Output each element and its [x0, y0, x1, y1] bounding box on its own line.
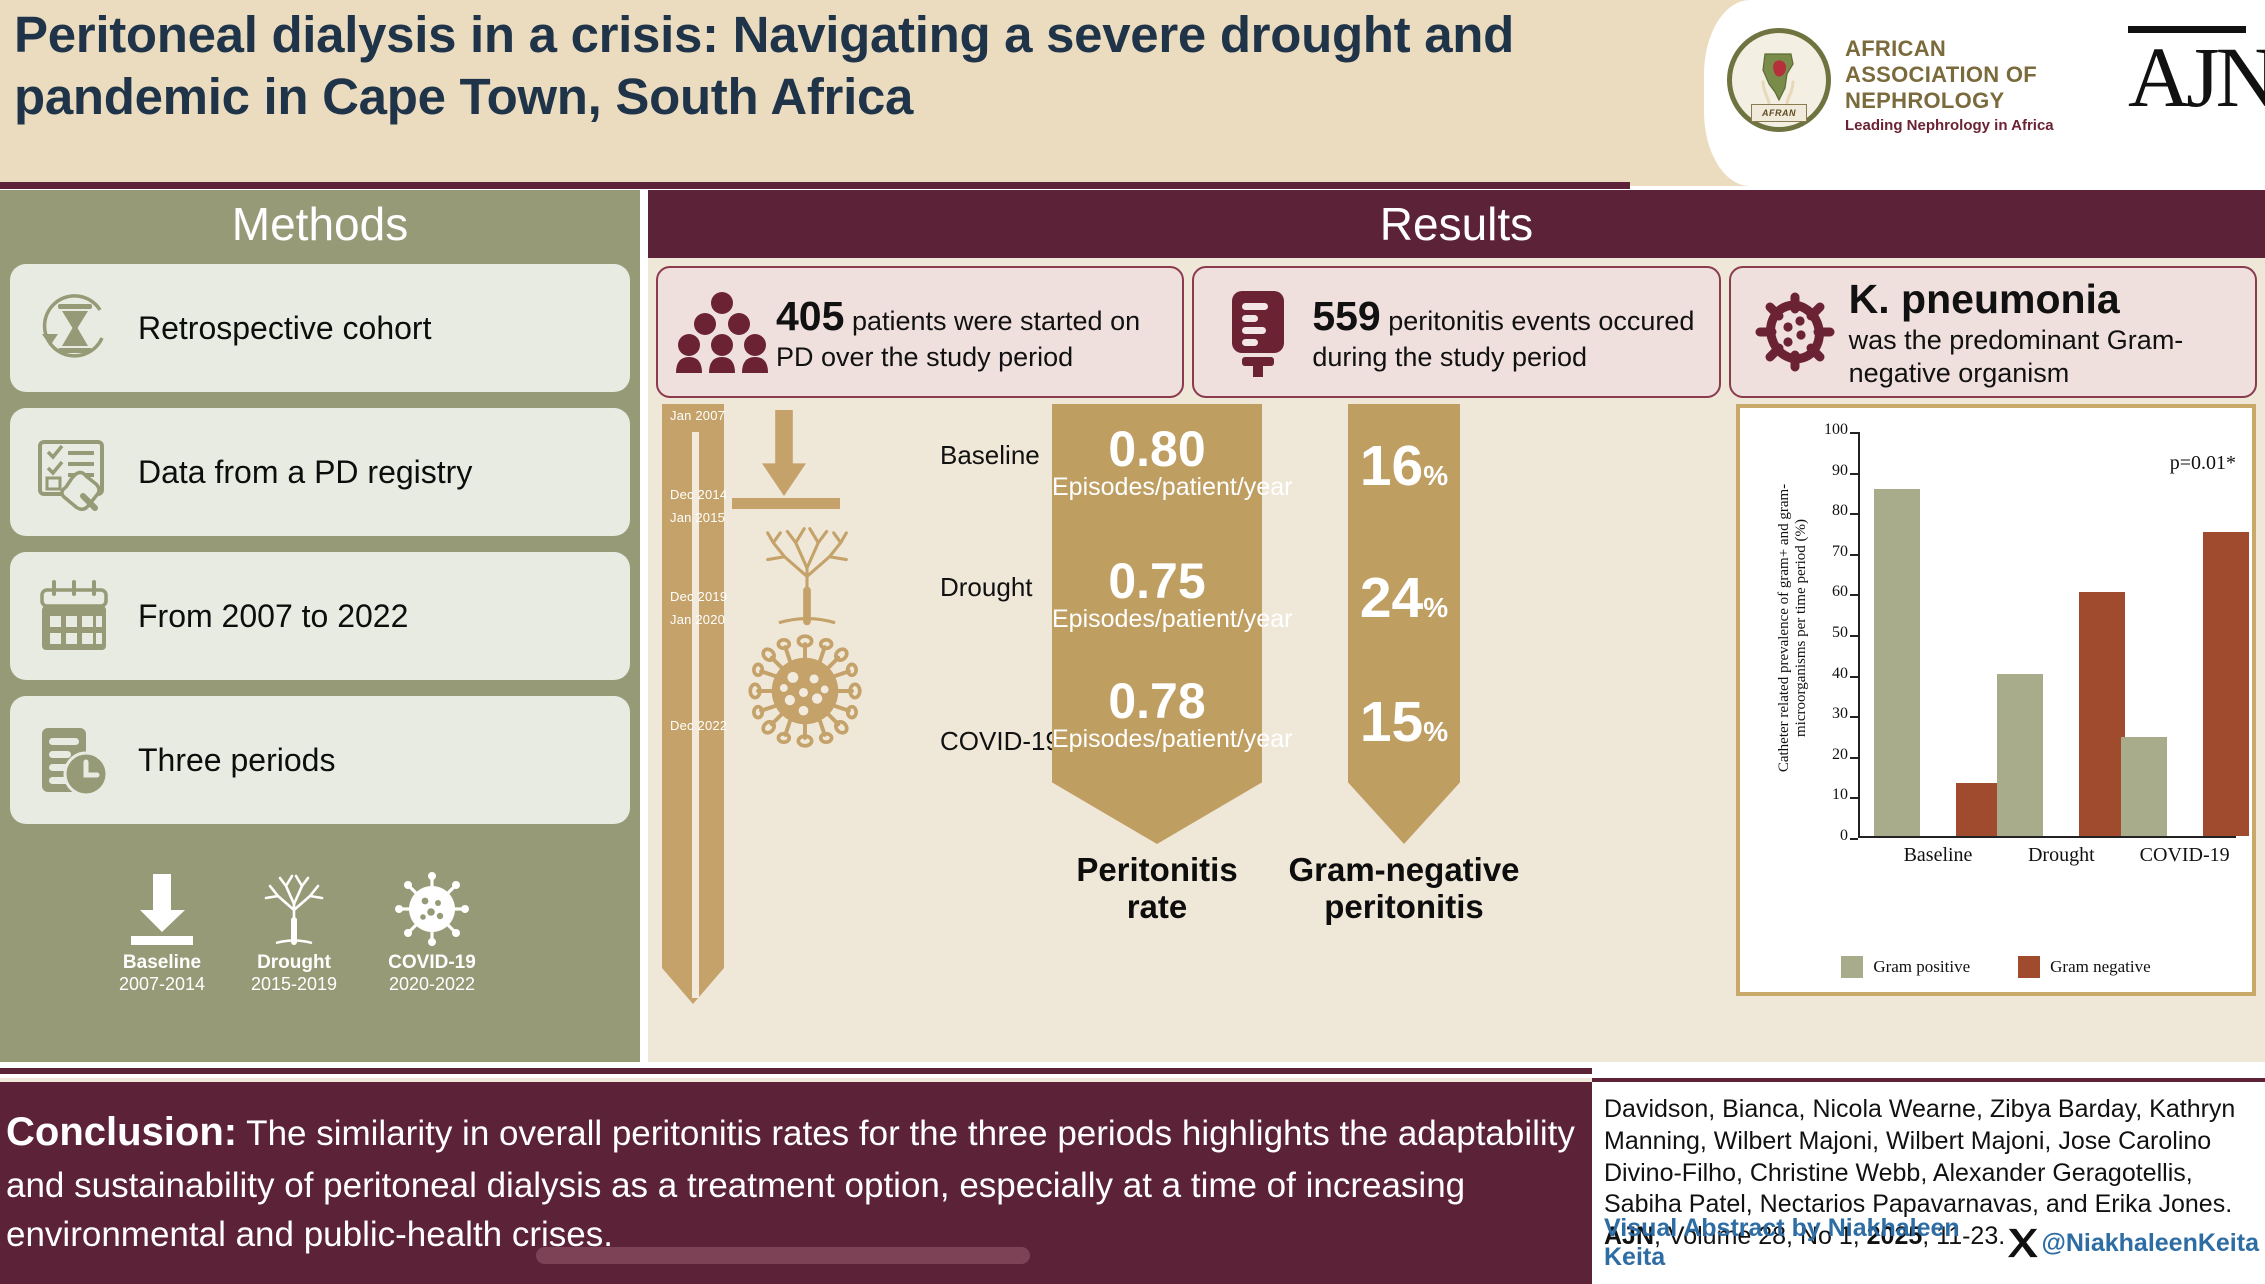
stat-card-number: 405 [776, 293, 844, 339]
peritonitis-value-drought: 0.75 Episodes/patient/year [1052, 556, 1262, 634]
methods-timeline-label: Baseline [96, 953, 228, 974]
footer-divider [0, 1068, 1592, 1074]
association-name: AFRICAN ASSOCIATION OF NEPHROLOGY [1845, 36, 2105, 114]
percent-symbol: % [1423, 716, 1448, 747]
visual-abstract-poster: Peritoneal dialysis in a crisis: Navigat… [0, 0, 2265, 1284]
stat-card-description: was the predominant Gram-negative organi… [1849, 324, 2245, 390]
chart-y-tick-label: 60 [1802, 583, 1848, 601]
stat-card-organism: K. pneumonia was the predominant Gram-ne… [1729, 266, 2257, 398]
peritonitis-value-covid: 0.78 Episodes/patient/year [1052, 676, 1262, 754]
peritonitis-unit: Episodes/patient/year [1052, 726, 1262, 754]
bare-tree-icon [252, 870, 336, 948]
people-group-icon [668, 289, 776, 375]
ribbon-label-dec-2022: Dec 2022 [670, 718, 727, 733]
chart-y-tick-label: 100 [1802, 421, 1848, 439]
percent-symbol: % [1423, 460, 1448, 491]
results-panel: Results [648, 190, 2265, 1062]
chart-y-tick-mark [1850, 635, 1858, 637]
stat-card-number: K. pneumonia [1849, 274, 2245, 324]
ajn-logo-text: AJN [2128, 34, 2246, 120]
chart-y-tick-mark [1850, 716, 1858, 718]
results-period-label-baseline: Baseline [940, 440, 1040, 471]
conclusion-scrollbar[interactable] [536, 1247, 1030, 1264]
document-clock-icon [10, 714, 138, 806]
chart-y-tick-label: 0 [1802, 827, 1848, 845]
chart-plot-area [1858, 432, 2228, 838]
chart-y-tick-mark [1850, 513, 1858, 515]
stat-card-number: 559 [1312, 293, 1380, 339]
chart-bar [2203, 532, 2249, 837]
peritonitis-rate-caption: Peritonitis rate [1052, 852, 1262, 926]
afran-logo-icon: AFRAN [1727, 28, 1831, 132]
gram-negative-value: 15 [1360, 690, 1423, 754]
methods-timeline-covid: COVID-19 2020-2022 [362, 870, 502, 995]
chart-bar [1874, 489, 1920, 836]
chart-y-tick-mark [1850, 594, 1858, 596]
ribbon-label-dec-2014: Dec 2014 [670, 487, 727, 502]
results-period-label-covid: COVID-19 [940, 726, 1060, 757]
legend-item-gram-positive: Gram positive [1841, 956, 1970, 978]
results-stat-cards: 405 patients were started on PD over the… [656, 266, 2257, 398]
peritonitis-rate-column: 0.80 Episodes/patient/year 0.75 Episodes… [1052, 404, 1262, 874]
chart-y-tick-label: 40 [1802, 665, 1848, 683]
method-item-label: Retrospective cohort [138, 310, 431, 347]
chart-bar [1997, 674, 2043, 836]
stat-card-text: 405 patients were started on PD over the… [776, 291, 1172, 374]
ajn-logo: AJN [2128, 22, 2246, 134]
methods-timeline-years: 2020-2022 [362, 974, 502, 995]
dialysis-bag-icon [1204, 285, 1312, 379]
bar-chart: Catheter related prevalence of gram+ and… [1736, 404, 2256, 996]
methods-timeline-label: Drought [228, 953, 360, 974]
ribbon-label-jan-2015: Jan 2015 [670, 510, 725, 525]
calendar-icon [10, 570, 138, 662]
chart-bar [2079, 592, 2125, 836]
results-body: Jan 2007 Dec 2014 Jan 2015 Dec 2019 Jan … [648, 404, 2265, 1062]
chart-y-axis [1858, 432, 1860, 838]
down-arrow-icon [762, 410, 806, 496]
chart-x-axis [1858, 836, 2236, 838]
ribbon-label-jan-2020: Jan 2020 [670, 612, 725, 627]
gram-negative-value: 24 [1360, 566, 1423, 630]
credit-handle[interactable]: @NiakhaleenKeita [2041, 1229, 2259, 1258]
method-item-label: From 2007 to 2022 [138, 598, 408, 635]
method-item-label: Data from a PD registry [138, 454, 472, 491]
ribbon-label-dec-2019: Dec 2019 [670, 589, 727, 604]
legend-swatch [2018, 956, 2040, 978]
chart-legend: Gram positive Gram negative [1740, 956, 2252, 978]
gram-negative-value-covid: 15% [1348, 694, 1460, 751]
chart-y-tick-mark [1850, 554, 1858, 556]
methods-timeline-baseline: Baseline 2007-2014 [96, 870, 228, 995]
bare-tree-icon [748, 516, 866, 634]
methods-list: Retrospective cohort [0, 264, 640, 840]
stat-card-text: K. pneumonia was the predominant Gram-ne… [1849, 274, 2245, 390]
chart-y-tick-label: 70 [1802, 543, 1848, 561]
association-tagline: Leading Nephrology in Africa [1845, 117, 2105, 134]
x-twitter-icon[interactable] [2006, 1225, 2040, 1261]
chart-y-tick-mark [1850, 838, 1858, 840]
gram-negative-value-drought: 24% [1348, 570, 1460, 627]
association-name-block: AFRICAN ASSOCIATION OF NEPHROLOGY Leadin… [1845, 36, 2105, 134]
methods-timeline-years: 2015-2019 [228, 974, 360, 995]
stat-card-patients: 405 patients were started on PD over the… [656, 266, 1184, 398]
peritonitis-unit: Episodes/patient/year [1052, 474, 1262, 502]
peritonitis-value: 0.75 [1052, 556, 1262, 606]
gram-negative-value-baseline: 16% [1348, 438, 1460, 495]
percent-symbol: % [1423, 592, 1448, 623]
chart-y-tick-mark [1850, 757, 1858, 759]
afran-badge-label: AFRAN [1751, 104, 1807, 122]
stat-card-text: 559 peritonitis events occured during th… [1312, 291, 1708, 374]
citation-panel: Davidson, Bianca, Nicola Wearne, Zibya B… [1592, 1078, 2265, 1284]
chart-y-tick-label: 90 [1802, 462, 1848, 480]
method-item-date-range: From 2007 to 2022 [10, 552, 630, 680]
methods-timeline: Baseline 2007-2014 Drought 2015-20 [0, 870, 640, 1000]
clipboard-checklist-icon [10, 426, 138, 518]
chart-y-tick-label: 50 [1802, 624, 1848, 642]
legend-label: Gram negative [2050, 957, 2151, 977]
chart-bar [2121, 737, 2167, 836]
credit-author: Visual Abstract by Niakhaleen Keita [1604, 1214, 2004, 1272]
gram-negative-value: 16 [1360, 434, 1423, 498]
methods-timeline-years: 2007-2014 [96, 974, 228, 995]
conclusion-text: Conclusion: The similarity in overall pe… [6, 1104, 1576, 1260]
citation-authors: Davidson, Bianca, Nicola Wearne, Zibya B… [1604, 1095, 2235, 1218]
page-title: Peritoneal dialysis in a crisis: Navigat… [14, 4, 1734, 128]
conclusion-body: The similarity in overall peritonitis ra… [6, 1114, 1575, 1254]
peritonitis-value: 0.80 [1052, 424, 1262, 474]
methods-heading: Methods [0, 190, 640, 258]
peritonitis-value: 0.78 [1052, 676, 1262, 726]
hourglass-refresh-icon [10, 282, 138, 374]
chart-y-tick-label: 10 [1802, 786, 1848, 804]
method-item-retrospective-cohort: Retrospective cohort [10, 264, 630, 392]
header-rule [0, 182, 1630, 189]
stat-card-events: 559 peritonitis events occured during th… [1192, 266, 1720, 398]
method-item-label: Three periods [138, 742, 335, 779]
chart-y-tick-label: 30 [1802, 705, 1848, 723]
peritonitis-unit: Episodes/patient/year [1052, 606, 1262, 634]
results-period-label-drought: Drought [940, 572, 1033, 603]
methods-panel: Methods Retrospective cohort [0, 190, 640, 1062]
conclusion-label: Conclusion: [6, 1110, 237, 1154]
down-arrow-icon [127, 870, 197, 948]
legend-swatch [1841, 956, 1863, 978]
baseline-bar-icon [732, 498, 840, 509]
results-heading: Results [648, 190, 2265, 258]
virus-icon [393, 870, 471, 948]
legend-item-gram-negative: Gram negative [2018, 956, 2151, 978]
poster-header: Peritoneal dialysis in a crisis: Navigat… [0, 0, 2265, 186]
africa-map-icon [1747, 48, 1811, 112]
method-item-three-periods: Three periods [10, 696, 630, 824]
visual-abstract-credit: Visual Abstract by Niakhaleen Keita @Nia… [1604, 1214, 2259, 1272]
gram-negative-caption: Gram-negative peritonitis [1288, 852, 1520, 926]
methods-timeline-drought: Drought 2015-2019 [228, 870, 360, 995]
chart-y-tick-mark [1850, 432, 1858, 434]
chart-y-tick-mark [1850, 676, 1858, 678]
virus-icon [746, 632, 864, 750]
gram-negative-column: 16% 24% 15% Gram-negative peritonitis [1348, 404, 1460, 924]
chart-y-tick-label: 80 [1802, 502, 1848, 520]
peritonitis-value-baseline: 0.80 Episodes/patient/year [1052, 424, 1262, 502]
chart-x-tick-label: COVID-19 [2097, 844, 2265, 867]
ribbon-label-jan-2007: Jan 2007 [670, 408, 725, 423]
chart-y-tick-mark [1850, 797, 1858, 799]
chart-y-tick-label: 20 [1802, 746, 1848, 764]
chart-y-tick-mark [1850, 473, 1858, 475]
legend-label: Gram positive [1873, 957, 1970, 977]
conclusion-panel: Conclusion: The similarity in overall pe… [0, 1078, 1592, 1284]
methods-timeline-label: COVID-19 [362, 953, 502, 974]
method-item-pd-registry: Data from a PD registry [10, 408, 630, 536]
bacteria-icon [1741, 285, 1849, 379]
chart-bar [1956, 783, 2002, 836]
